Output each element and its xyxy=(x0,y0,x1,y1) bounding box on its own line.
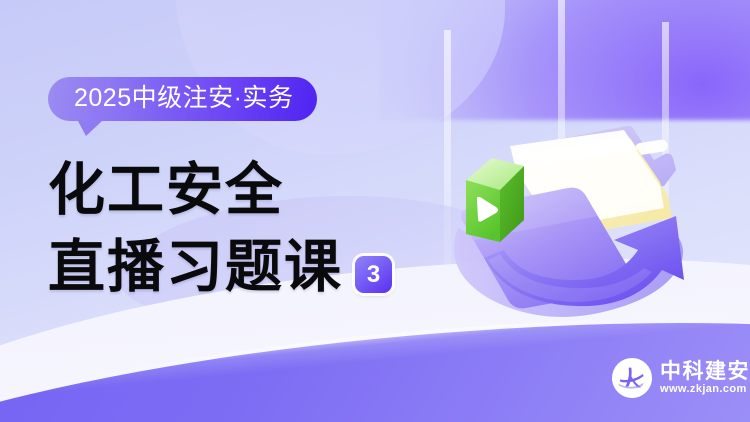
course-banner: 2025中级注安·实务 化工安全 直播习题课 3 中科建安 www.zkjan.… xyxy=(0,0,750,422)
hero-illustration xyxy=(418,108,718,338)
course-badge-wrapper: 2025中级注安·实务 xyxy=(48,77,317,121)
course-badge-tail xyxy=(78,121,102,136)
brand-name: 中科建安 xyxy=(660,361,750,382)
title-primary-text: 化工安全 xyxy=(48,159,284,222)
course-badge: 2025中级注安·实务 xyxy=(48,77,317,121)
brand-url: www.zkjan.com xyxy=(660,384,750,395)
title-secondary-text: 直播习题课 xyxy=(48,232,343,304)
title-primary: 化工安全 xyxy=(48,155,392,227)
brand-logo-text: 中科建安 www.zkjan.com xyxy=(660,361,750,395)
episode-number-badge: 3 xyxy=(355,256,392,293)
brand-logo-icon xyxy=(612,358,652,398)
brand-logo: 中科建安 www.zkjan.com xyxy=(612,358,750,398)
title-block: 化工安全 直播习题课 3 xyxy=(48,155,392,304)
title-secondary: 直播习题课 3 xyxy=(48,232,392,304)
